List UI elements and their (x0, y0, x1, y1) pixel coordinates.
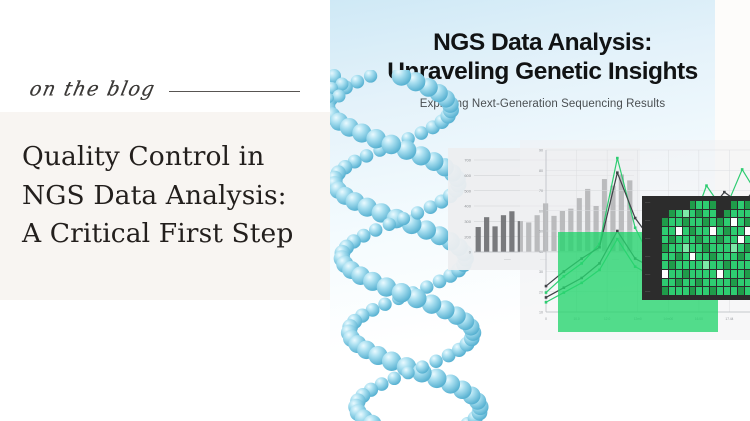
heatmap-cell (738, 287, 744, 295)
heatmap-cell (696, 236, 702, 244)
heatmap-cell (710, 261, 716, 269)
svg-text:80: 80 (539, 169, 543, 173)
heatmap-cell (731, 218, 737, 226)
svg-text:400: 400 (464, 204, 471, 209)
svg-text:600: 600 (464, 173, 471, 178)
heatmap-cell (669, 201, 675, 209)
heatmap-cell (731, 287, 737, 295)
heatmap-cell (669, 261, 675, 269)
heatmap-cell (717, 236, 723, 244)
heatmap-cell (731, 261, 737, 269)
heatmap-cell (690, 227, 696, 235)
heatmap-cell (717, 244, 723, 252)
heatmap-cell (696, 210, 702, 218)
heatmap-cell (717, 287, 723, 295)
heatmap-cell (676, 261, 682, 269)
heatmap-cell (738, 227, 744, 235)
heatmap-y-axis: ———————————— (645, 202, 659, 294)
heatmap-cell (696, 253, 702, 261)
heatmap-cell (724, 236, 730, 244)
heatmap-cell (710, 244, 716, 252)
heatmap-cell (703, 270, 709, 278)
heatmap-cell (703, 236, 709, 244)
heatmap-cell (731, 253, 737, 261)
heatmap-cell (690, 244, 696, 252)
heatmap-cell (703, 201, 709, 209)
heatmap-cell (703, 279, 709, 287)
heatmap-cell (738, 236, 744, 244)
heatmap-cell (703, 227, 709, 235)
heatmap-cell (710, 236, 716, 244)
heatmap-cell (738, 201, 744, 209)
heatmap-cell (745, 253, 750, 261)
heatmap-cell (745, 270, 750, 278)
svg-text:10: 10 (539, 311, 543, 315)
heatmap-cell (724, 270, 730, 278)
eyebrow-divider-line (169, 91, 300, 92)
heatmap-cell (683, 279, 689, 287)
heatmap-cell (690, 287, 696, 295)
heatmap-cell (662, 210, 668, 218)
heatmap-cell (662, 270, 668, 278)
heatmap-cell (676, 227, 682, 235)
heatmap-cell (690, 279, 696, 287)
heatmap-cell (703, 253, 709, 261)
heatmap-cell (717, 261, 723, 269)
heatmap-cell (690, 201, 696, 209)
heatmap-cell (703, 218, 709, 226)
heatmap-cell (731, 236, 737, 244)
heatmap-cell (703, 287, 709, 295)
page-title: Quality Control in NGS Data Analysis: A … (22, 138, 312, 254)
heatmap-cell (662, 201, 668, 209)
heatmap-cell (669, 270, 675, 278)
heatmap-cell (696, 261, 702, 269)
heatmap-cell (717, 270, 723, 278)
heatmap-cell (669, 236, 675, 244)
svg-text:60: 60 (539, 209, 543, 213)
heatmap-cell (690, 236, 696, 244)
heatmap-cell (696, 244, 702, 252)
svg-text:17.44: 17.44 (725, 317, 733, 321)
heatmap-cell (710, 227, 716, 235)
svg-text:50: 50 (539, 230, 543, 234)
heatmap-cell (662, 227, 668, 235)
svg-text:30: 30 (539, 270, 543, 274)
heatmap-cell (676, 218, 682, 226)
heatmap-y-tick: —— (645, 238, 659, 241)
heatmap-cell (724, 279, 730, 287)
heatmap-cell (690, 261, 696, 269)
heatmap-y-tick: —— (645, 256, 659, 259)
heatmap-cell (710, 253, 716, 261)
poster-canvas: on the blog Quality Control in NGS Data … (0, 0, 750, 421)
heatmap-y-tick: —— (645, 220, 659, 223)
heatmap-cell (676, 236, 682, 244)
heatmap-cell (703, 261, 709, 269)
heatmap-cell (710, 279, 716, 287)
right-visual-panel: NGS Data Analysis: Unraveling Genetic In… (330, 0, 750, 421)
heatmap-cell (662, 287, 668, 295)
heatmap-cell (745, 218, 750, 226)
heatmap-cell (717, 253, 723, 261)
heatmap-y-tick: —— (645, 202, 659, 205)
heatmap-cell (683, 210, 689, 218)
heatmap-cell (745, 279, 750, 287)
heatmap-cell (696, 201, 702, 209)
dna-fragment-icon (330, 62, 364, 108)
heatmap-cell (683, 270, 689, 278)
eyebrow-script-text: on the blog (28, 77, 158, 100)
heatmap-cell (669, 244, 675, 252)
heatmap-cell (696, 218, 702, 226)
heatmap-cell (731, 201, 737, 209)
svg-text:300: 300 (464, 219, 471, 224)
heatmap-cell (738, 261, 744, 269)
heatmap-cell (738, 279, 744, 287)
heatmap-cell (731, 210, 737, 218)
heatmap-cell (738, 210, 744, 218)
heatmap-cell (731, 279, 737, 287)
svg-text:40: 40 (539, 250, 543, 254)
heatmap-cell (669, 210, 675, 218)
heatmap-cell (676, 253, 682, 261)
heatmap-cell (683, 261, 689, 269)
heatmap-cell (676, 270, 682, 278)
heatmap-cell (724, 244, 730, 252)
heatmap-card: ———————————— (642, 196, 750, 300)
heatmap-cell (724, 218, 730, 226)
heatmap-cell (745, 244, 750, 252)
svg-text:0: 0 (545, 317, 547, 321)
heatmap-cell (662, 253, 668, 261)
heatmap-cell (724, 253, 730, 261)
heatmap-cell (745, 201, 750, 209)
heatmap-grid (662, 201, 750, 295)
heatmap-cell (738, 218, 744, 226)
heatmap-cell (676, 279, 682, 287)
heatmap-cell (731, 227, 737, 235)
heatmap-cell (738, 253, 744, 261)
svg-text:200: 200 (464, 234, 471, 239)
heatmap-cell (669, 279, 675, 287)
heatmap-cell (683, 253, 689, 261)
heatmap-cell (662, 236, 668, 244)
svg-text:——: —— (504, 257, 511, 261)
heatmap-cell (745, 261, 750, 269)
heatmap-cell (676, 210, 682, 218)
heatmap-cell (696, 279, 702, 287)
heatmap-cell (717, 210, 723, 218)
heatmap-y-tick: —— (645, 291, 659, 294)
heatmap-cell (724, 210, 730, 218)
heatmap-cell (724, 261, 730, 269)
heatmap-cell (703, 244, 709, 252)
svg-text:90: 90 (539, 149, 543, 153)
svg-text:0: 0 (469, 250, 472, 255)
heatmap-cell (710, 201, 716, 209)
heatmap-cell (724, 227, 730, 235)
heatmap-cell (696, 287, 702, 295)
blog-eyebrow: on the blog (30, 66, 300, 112)
heatmap-cell (731, 270, 737, 278)
heatmap-cell (683, 201, 689, 209)
heatmap-cell (724, 287, 730, 295)
heatmap-cell (690, 270, 696, 278)
heatmap-cell (669, 287, 675, 295)
heatmap-cell (683, 244, 689, 252)
heatmap-cell (703, 210, 709, 218)
svg-text:20: 20 (539, 290, 543, 294)
heatmap-cell (683, 236, 689, 244)
heatmap-cell (683, 227, 689, 235)
heatmap-cell (676, 244, 682, 252)
heatmap-cell (690, 253, 696, 261)
heatmap-cell (745, 287, 750, 295)
heatmap-cell (696, 270, 702, 278)
heatmap-cell (745, 236, 750, 244)
heatmap-cell (690, 218, 696, 226)
heatmap-cell (745, 210, 750, 218)
heatmap-cell (717, 279, 723, 287)
heatmap-cell (738, 270, 744, 278)
heatmap-cell (662, 261, 668, 269)
heatmap-cell (683, 287, 689, 295)
heatmap-cell (738, 244, 744, 252)
left-content-panel: on the blog Quality Control in NGS Data … (0, 0, 330, 421)
heatmap-cell (717, 218, 723, 226)
hero-heading-line1: NGS Data Analysis: (370, 28, 715, 57)
heatmap-cell (676, 287, 682, 295)
heatmap-cell (662, 218, 668, 226)
title-card: Quality Control in NGS Data Analysis: A … (0, 112, 330, 300)
heatmap-y-tick: —— (645, 274, 659, 277)
heatmap-cell (710, 287, 716, 295)
heatmap-cell (710, 270, 716, 278)
heatmap-cell (710, 210, 716, 218)
heatmap-cell (717, 227, 723, 235)
heatmap-cell (717, 201, 723, 209)
heatmap-cell (731, 244, 737, 252)
heatmap-cell (669, 227, 675, 235)
heatmap-cell (662, 279, 668, 287)
svg-text:70: 70 (539, 189, 543, 193)
heatmap-cell (669, 218, 675, 226)
svg-text:700: 700 (464, 158, 471, 163)
heatmap-cell (745, 227, 750, 235)
svg-text:500: 500 (464, 188, 471, 193)
heatmap-cell (662, 244, 668, 252)
heatmap-cell (676, 201, 682, 209)
heatmap-cell (696, 227, 702, 235)
heatmap-cell (724, 201, 730, 209)
heatmap-cell (683, 218, 689, 226)
heatmap-cell (710, 218, 716, 226)
heatmap-cell (669, 253, 675, 261)
heatmap-cell (690, 210, 696, 218)
